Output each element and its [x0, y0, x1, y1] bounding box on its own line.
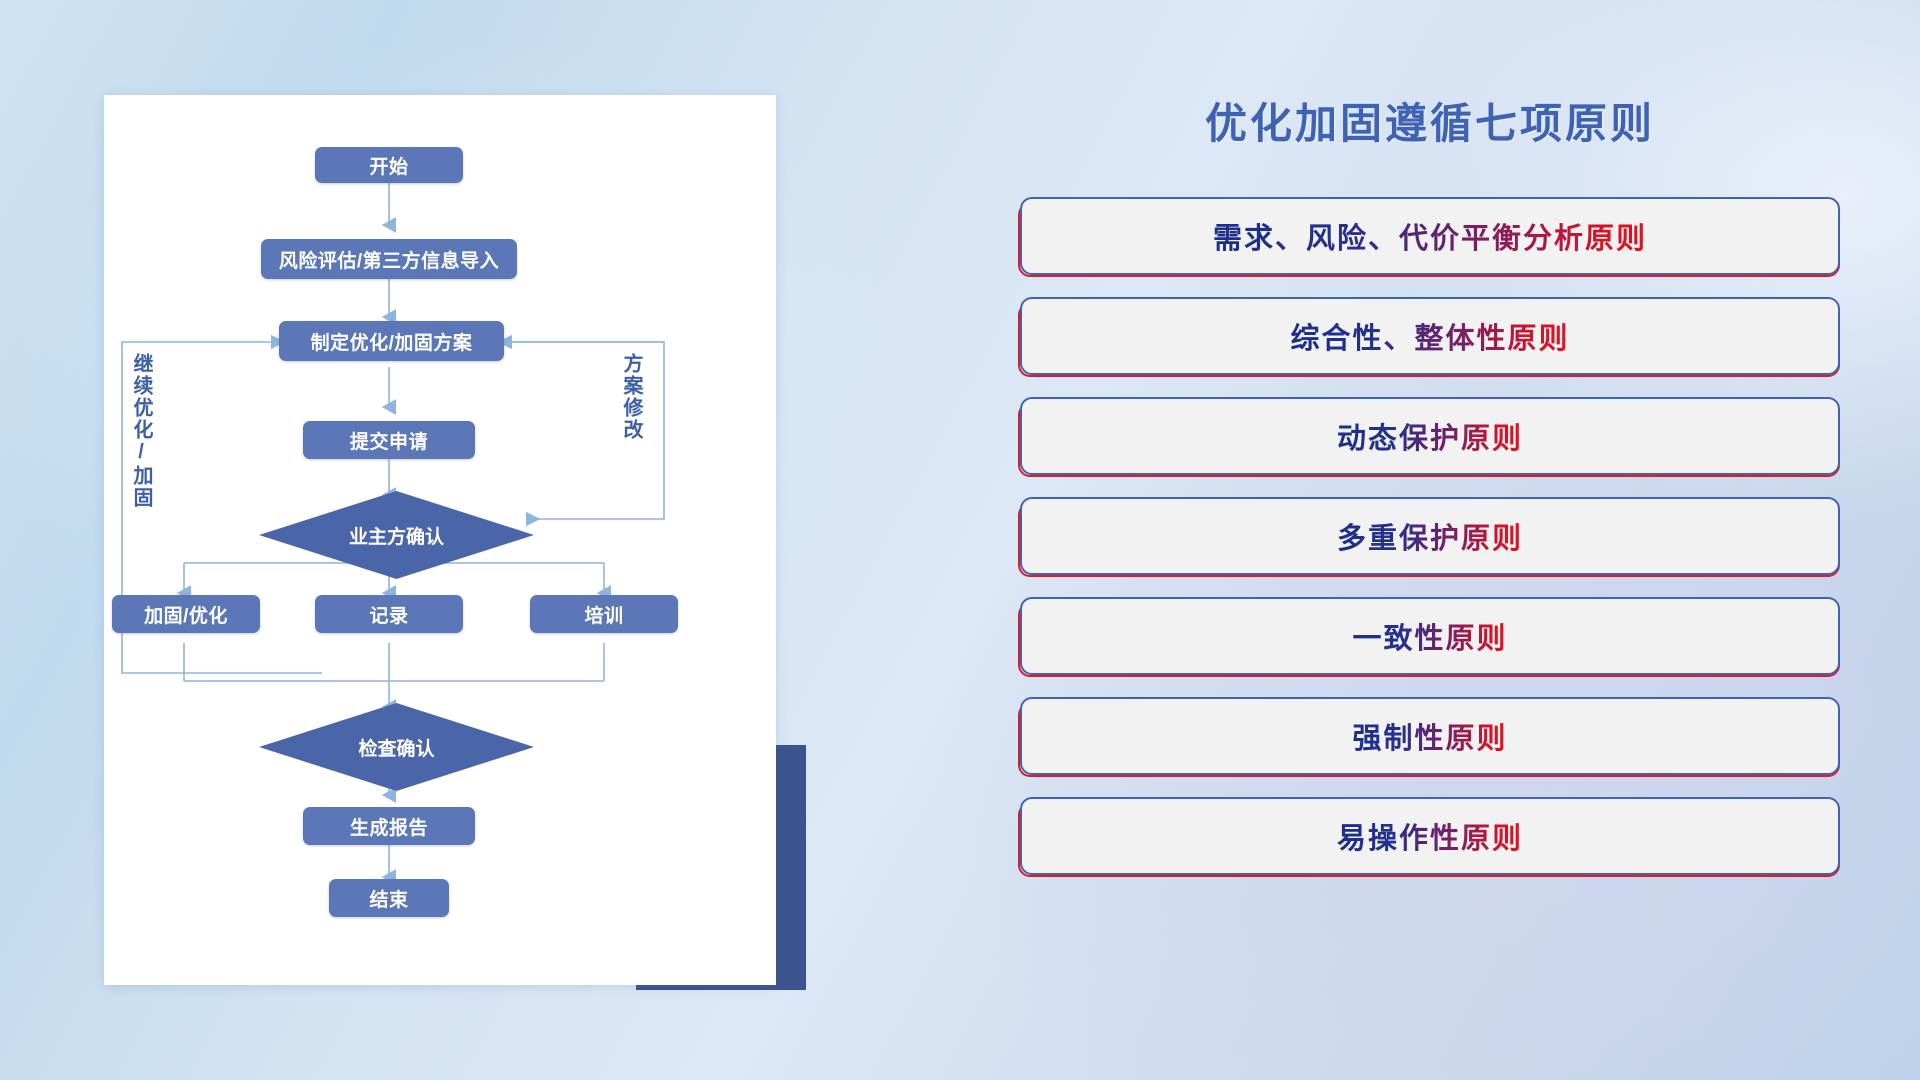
loop-label-plan-revision: 方案修改 [620, 353, 641, 441]
flow-node-submit-application[interactable]: 提交申请 [303, 421, 475, 459]
principle-label: 易操作性原则 [1337, 815, 1523, 857]
principle-item[interactable]: 多重保护原则 [1020, 497, 1840, 575]
flow-node-plan[interactable]: 制定优化/加固方案 [279, 321, 504, 361]
loop-label-continue-optimize: 继续优化/加固 [130, 353, 151, 509]
flow-node-training[interactable]: 培训 [530, 595, 678, 633]
flow-node-end[interactable]: 结束 [329, 879, 449, 917]
principle-item[interactable]: 一致性原则 [1020, 597, 1840, 675]
flowchart-card: 开始 风险评估/第三方信息导入 制定优化/加固方案 提交申请 业主方确认 加固/… [104, 95, 776, 985]
principle-item[interactable]: 需求、风险、代价平衡分析原则 [1020, 197, 1840, 275]
panel-title: 优化加固遵循七项原则 [1020, 90, 1840, 151]
principle-item[interactable]: 综合性、整体性原则 [1020, 297, 1840, 375]
principles-list: 需求、风险、代价平衡分析原则 综合性、整体性原则 动态保护原则 多重保护原则 一… [1020, 197, 1840, 875]
principle-label: 强制性原则 [1352, 715, 1507, 757]
principle-label: 综合性、整体性原则 [1290, 315, 1569, 357]
principle-item[interactable]: 易操作性原则 [1020, 797, 1840, 875]
principle-item[interactable]: 动态保护原则 [1020, 397, 1840, 475]
principle-label: 一致性原则 [1352, 615, 1507, 657]
flow-node-generate-report[interactable]: 生成报告 [303, 807, 475, 845]
principle-label: 需求、风险、代价平衡分析原则 [1213, 215, 1647, 257]
flow-node-risk-assessment[interactable]: 风险评估/第三方信息导入 [261, 239, 517, 279]
flow-node-record[interactable]: 记录 [315, 595, 463, 633]
slide-canvas: 开始 风险评估/第三方信息导入 制定优化/加固方案 提交申请 业主方确认 加固/… [0, 0, 1920, 1080]
flow-node-start[interactable]: 开始 [315, 147, 463, 183]
flow-node-reinforce[interactable]: 加固/优化 [112, 595, 260, 633]
principle-label: 多重保护原则 [1337, 515, 1523, 557]
principle-item[interactable]: 强制性原则 [1020, 697, 1840, 775]
principles-panel: 优化加固遵循七项原则 需求、风险、代价平衡分析原则 综合性、整体性原则 动态保护… [1020, 90, 1840, 1020]
principle-label: 动态保护原则 [1337, 415, 1523, 457]
